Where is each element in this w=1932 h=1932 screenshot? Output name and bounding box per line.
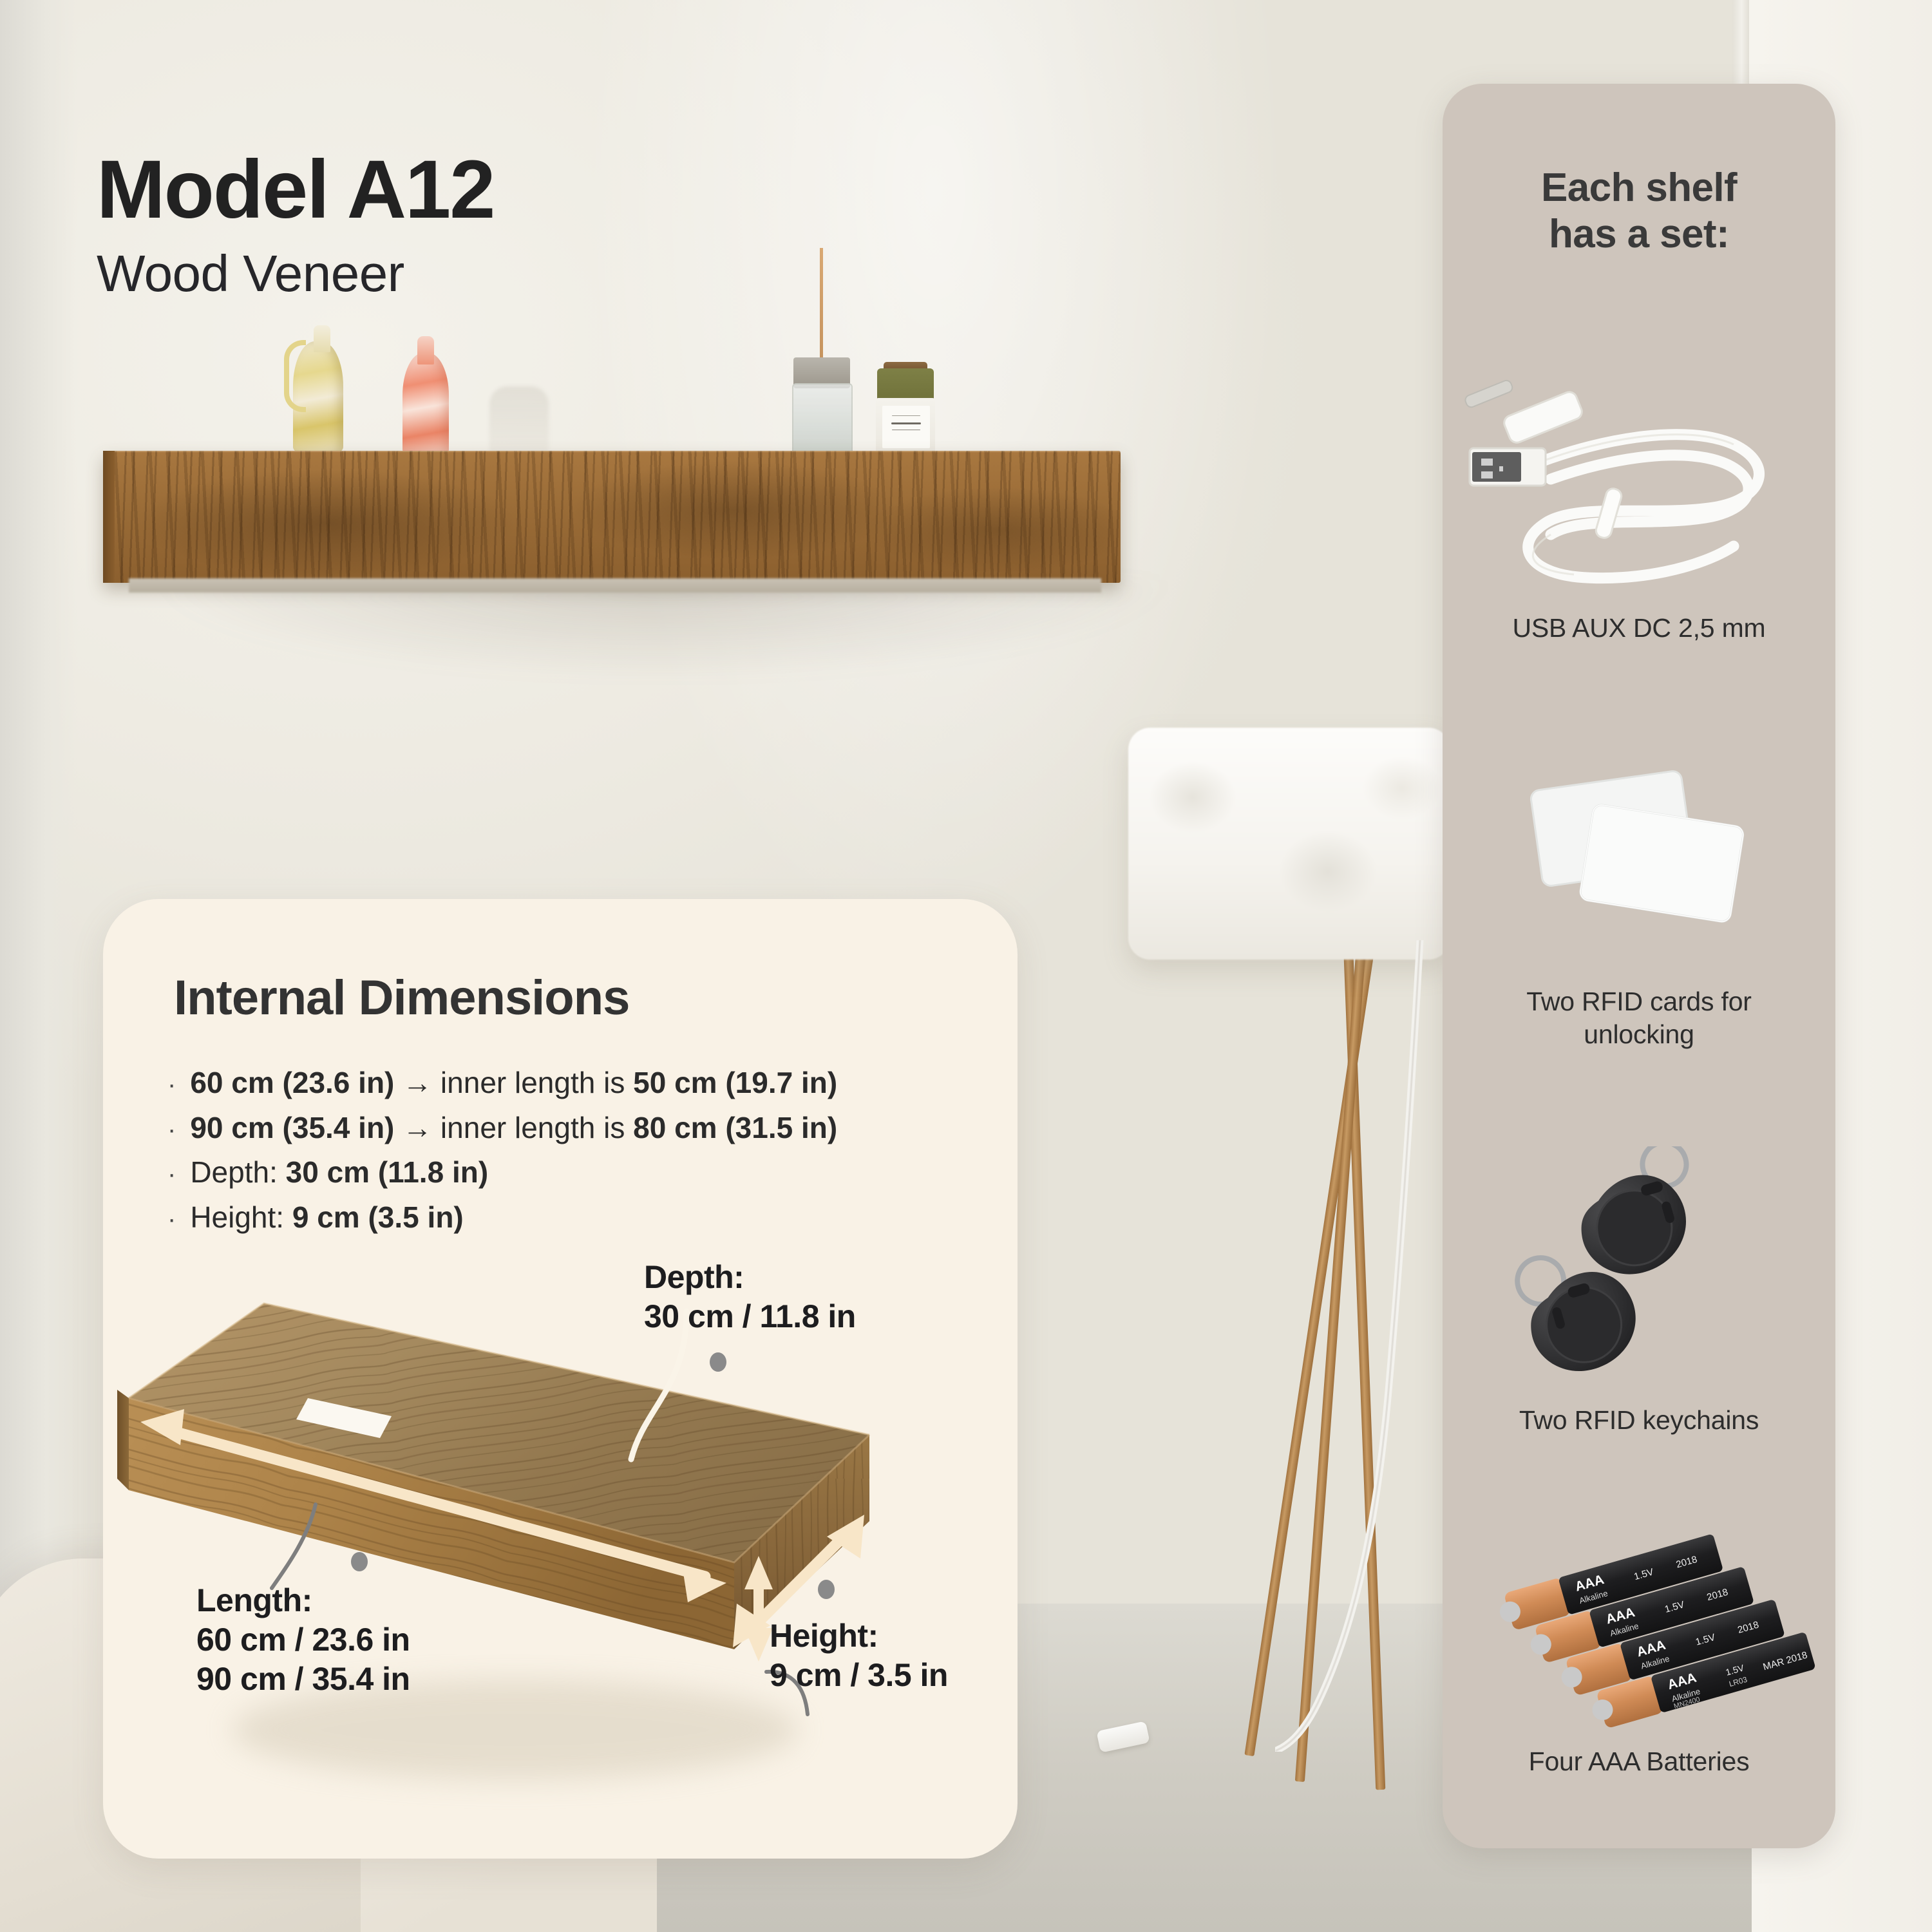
callout-depth-label: Depth: xyxy=(644,1258,856,1297)
callout-length: Length: 60 cm / 23.6 in 90 cm / 35.4 in xyxy=(196,1581,410,1699)
list-item: · 90 cm (35.4 in) → inner length is 80 c… xyxy=(167,1108,972,1148)
lamp-power-cord xyxy=(1275,940,1430,1752)
list-item: · 60 cm (23.6 in) → inner length is 50 c… xyxy=(167,1063,972,1103)
accessory-item-rfid-keychains: Two RFID keychains xyxy=(1443,1404,1835,1437)
bullet-mid-a: → inner length is xyxy=(394,1111,633,1144)
bullet-mid-a: Height: xyxy=(190,1200,292,1234)
accessory-item-rfid-cards: Two RFID cards for unlocking xyxy=(1443,985,1835,1052)
callout-depth-value: 30 cm / 11.8 in xyxy=(644,1297,856,1336)
dc-barrel-plug xyxy=(1502,390,1584,445)
candle-label xyxy=(882,406,930,448)
bullet-glyph: · xyxy=(167,1161,176,1187)
panel-title-line-2: has a set: xyxy=(1443,211,1835,258)
panel-title-line-1: Each shelf xyxy=(1443,165,1835,211)
shelf-3d-diagram xyxy=(103,1285,1018,1859)
bullet-mid-a: → inner length is xyxy=(394,1066,633,1099)
bullet-glyph: · xyxy=(167,1206,176,1232)
callout-height-label: Height: xyxy=(770,1616,948,1656)
bullet-strong-b: 9 cm (3.5 in) xyxy=(292,1200,464,1234)
accessory-caption: Four AAA Batteries xyxy=(1443,1745,1835,1778)
shelf-3d-svg xyxy=(103,1285,1018,1859)
page-title: Model A12 xyxy=(97,148,494,232)
callout-depth-dot xyxy=(710,1352,726,1372)
bullet-strong-b: 30 cm (11.8 in) xyxy=(286,1155,489,1189)
dimensions-bullet-list: · 60 cm (23.6 in) → inner length is 50 c… xyxy=(167,1063,972,1243)
page-title-block: Model A12 Wood Veneer xyxy=(97,148,494,303)
internal-dimensions-card: Internal Dimensions · 60 cm (23.6 in) → … xyxy=(103,899,1018,1859)
callout-length-dot xyxy=(351,1552,368,1571)
bullet-glyph: · xyxy=(167,1117,176,1142)
shelf-drop-shadow xyxy=(161,580,1166,676)
internal-dimensions-heading: Internal Dimensions xyxy=(174,970,629,1026)
bullet-strong-b: 50 cm (19.7 in) xyxy=(633,1066,837,1099)
rfid-card-front xyxy=(1579,804,1745,923)
callout-length-value-60: 60 cm / 23.6 in xyxy=(196,1620,410,1660)
rfid-cards-icon xyxy=(1443,728,1835,972)
bullet-strong-b: 80 cm (31.5 in) xyxy=(633,1111,837,1144)
dc-plug-pin xyxy=(1464,379,1514,408)
wall-mounted-shelf xyxy=(103,451,1121,583)
coral-vase-neck xyxy=(417,336,434,365)
accessory-caption-line-1: Two RFID cards for xyxy=(1443,985,1835,1018)
bullet-strong-a: 90 cm (35.4 in) xyxy=(190,1111,394,1144)
shelf-underside xyxy=(129,578,1101,592)
lamp-shade xyxy=(1128,728,1450,960)
accessory-caption-line-2: unlocking xyxy=(1443,1018,1835,1051)
background-vase-blur xyxy=(489,386,549,459)
yellow-vase-neck xyxy=(314,325,330,352)
bullet-glyph: · xyxy=(167,1072,176,1097)
shelf-left-endgrain xyxy=(103,451,115,583)
callout-height-value: 9 cm / 3.5 in xyxy=(770,1656,948,1695)
yellow-vase-handle xyxy=(284,340,306,412)
aaa-batteries-icon: AAA Alkaline 1.5V 2018 AAA Alkaline 1.5V… xyxy=(1443,1533,1835,1732)
callout-height: Height: 9 cm / 3.5 in xyxy=(770,1616,948,1695)
rfid-keychains-icon xyxy=(1443,1146,1835,1391)
rfid-keyfob-upper xyxy=(1563,1146,1712,1286)
callout-height-dot xyxy=(818,1580,835,1599)
glass-diffuser-jar xyxy=(792,383,853,459)
accessory-caption: Two RFID keychains xyxy=(1443,1404,1835,1437)
accessories-panel: Each shelf has a set: xyxy=(1443,84,1835,1848)
callout-length-value-90: 90 cm / 35.4 in xyxy=(196,1660,410,1699)
coral-glass-vase xyxy=(402,353,449,457)
accessories-panel-title: Each shelf has a set: xyxy=(1443,165,1835,258)
accessory-item-usb-cable: USB AUX DC 2,5 mm xyxy=(1443,612,1835,645)
list-item: · Depth: 30 cm (11.8 in) xyxy=(167,1153,972,1192)
accessory-caption: USB AUX DC 2,5 mm xyxy=(1443,612,1835,645)
usb-dc-cable-icon xyxy=(1443,341,1835,599)
callout-depth: Depth: 30 cm / 11.8 in xyxy=(644,1258,856,1336)
list-item: · Height: 9 cm (3.5 in) xyxy=(167,1198,972,1237)
shelf-left-end-face xyxy=(117,1390,129,1490)
bullet-strong-a: 60 cm (23.6 in) xyxy=(190,1066,394,1099)
callout-length-label: Length: xyxy=(196,1581,410,1620)
bullet-mid-a: Depth: xyxy=(190,1155,285,1189)
accessory-item-aaa-batteries: AAA Alkaline 1.5V 2018 AAA Alkaline 1.5V… xyxy=(1443,1745,1835,1778)
page-subtitle: Wood Veneer xyxy=(97,244,494,303)
